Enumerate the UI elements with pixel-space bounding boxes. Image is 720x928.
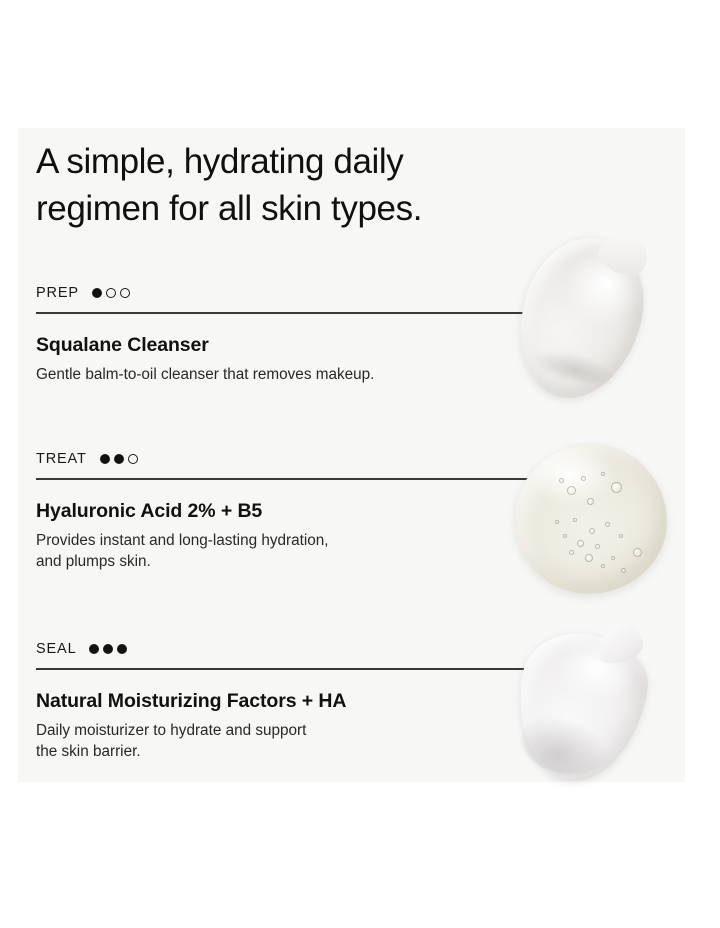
progress-dot-filled xyxy=(100,454,110,464)
progress-dot-filled xyxy=(117,644,127,654)
serum-bubble xyxy=(577,540,584,547)
description-line: and plumps skin. xyxy=(36,551,506,573)
description-line: the skin barrier. xyxy=(36,741,506,763)
page-title: A simple, hydrating daily regimen for al… xyxy=(36,138,566,232)
progress-dot-filled xyxy=(89,644,99,654)
serum-bubble xyxy=(563,534,567,538)
serum-bubble xyxy=(611,482,622,493)
step-header: SEAL xyxy=(36,640,548,658)
product-description: Provides instant and long-lasting hydrat… xyxy=(36,530,506,573)
step-progress-dots xyxy=(89,644,127,655)
serum-droplet-shape xyxy=(515,444,667,594)
description-line: Daily moisturizer to hydrate and support xyxy=(36,720,506,742)
serum-bubble xyxy=(573,518,577,522)
divider xyxy=(36,312,546,314)
serum-bubble xyxy=(611,556,615,560)
serum-bubble xyxy=(621,568,626,573)
balm-texture-swatch xyxy=(514,230,686,406)
serum-bubble xyxy=(619,534,623,538)
progress-dot-empty xyxy=(128,454,138,464)
step-progress-dots xyxy=(100,454,138,465)
step-progress-dots xyxy=(92,288,130,299)
progress-dot-filled xyxy=(92,288,102,298)
serum-bubble xyxy=(587,498,594,505)
progress-dot-filled xyxy=(103,644,113,654)
product-title: Natural Moisturizing Factors + HA xyxy=(36,690,548,713)
serum-bubble xyxy=(601,472,605,476)
step-label: PREP xyxy=(36,285,79,301)
divider xyxy=(36,668,546,670)
serum-bubble xyxy=(567,486,576,495)
step-label: TREAT xyxy=(36,451,87,467)
regimen-step-prep: PREP Squalane Cleanser Gentle balm-to-oi… xyxy=(36,284,548,385)
step-header: TREAT xyxy=(36,450,548,468)
serum-bubble xyxy=(569,550,574,555)
description-line: Gentle balm-to-oil cleanser that removes… xyxy=(36,364,506,386)
regimen-step-seal: SEAL Natural Moisturizing Factors + HA D… xyxy=(36,640,548,763)
serum-bubble xyxy=(595,544,600,549)
serum-bubble xyxy=(633,548,642,557)
serum-texture-swatch xyxy=(509,440,687,600)
serum-bubble xyxy=(559,478,564,483)
product-description: Daily moisturizer to hydrate and support… xyxy=(36,720,506,763)
serum-bubble xyxy=(605,522,610,527)
product-description: Gentle balm-to-oil cleanser that removes… xyxy=(36,364,506,386)
serum-bubble xyxy=(601,564,605,568)
serum-bubble xyxy=(585,554,593,562)
product-regimen-infographic: A simple, hydrating daily regimen for al… xyxy=(0,0,720,928)
regimen-step-treat: TREAT Hyaluronic Acid 2% + B5 Provides i… xyxy=(36,450,548,573)
serum-bubble xyxy=(589,528,595,534)
serum-bubble xyxy=(555,520,559,524)
description-line: Provides instant and long-lasting hydrat… xyxy=(36,530,506,552)
progress-dot-empty xyxy=(120,288,130,298)
product-title: Squalane Cleanser xyxy=(36,334,548,357)
divider xyxy=(36,478,546,480)
step-label: SEAL xyxy=(36,641,76,657)
step-header: PREP xyxy=(36,284,548,302)
progress-dot-filled xyxy=(114,454,124,464)
cream-texture-swatch xyxy=(504,622,690,788)
serum-bubble xyxy=(581,476,586,481)
product-title: Hyaluronic Acid 2% + B5 xyxy=(36,500,548,523)
headline-line-1: A simple, hydrating daily xyxy=(36,138,566,185)
progress-dot-empty xyxy=(106,288,116,298)
headline-line-2: regimen for all skin types. xyxy=(36,185,566,232)
